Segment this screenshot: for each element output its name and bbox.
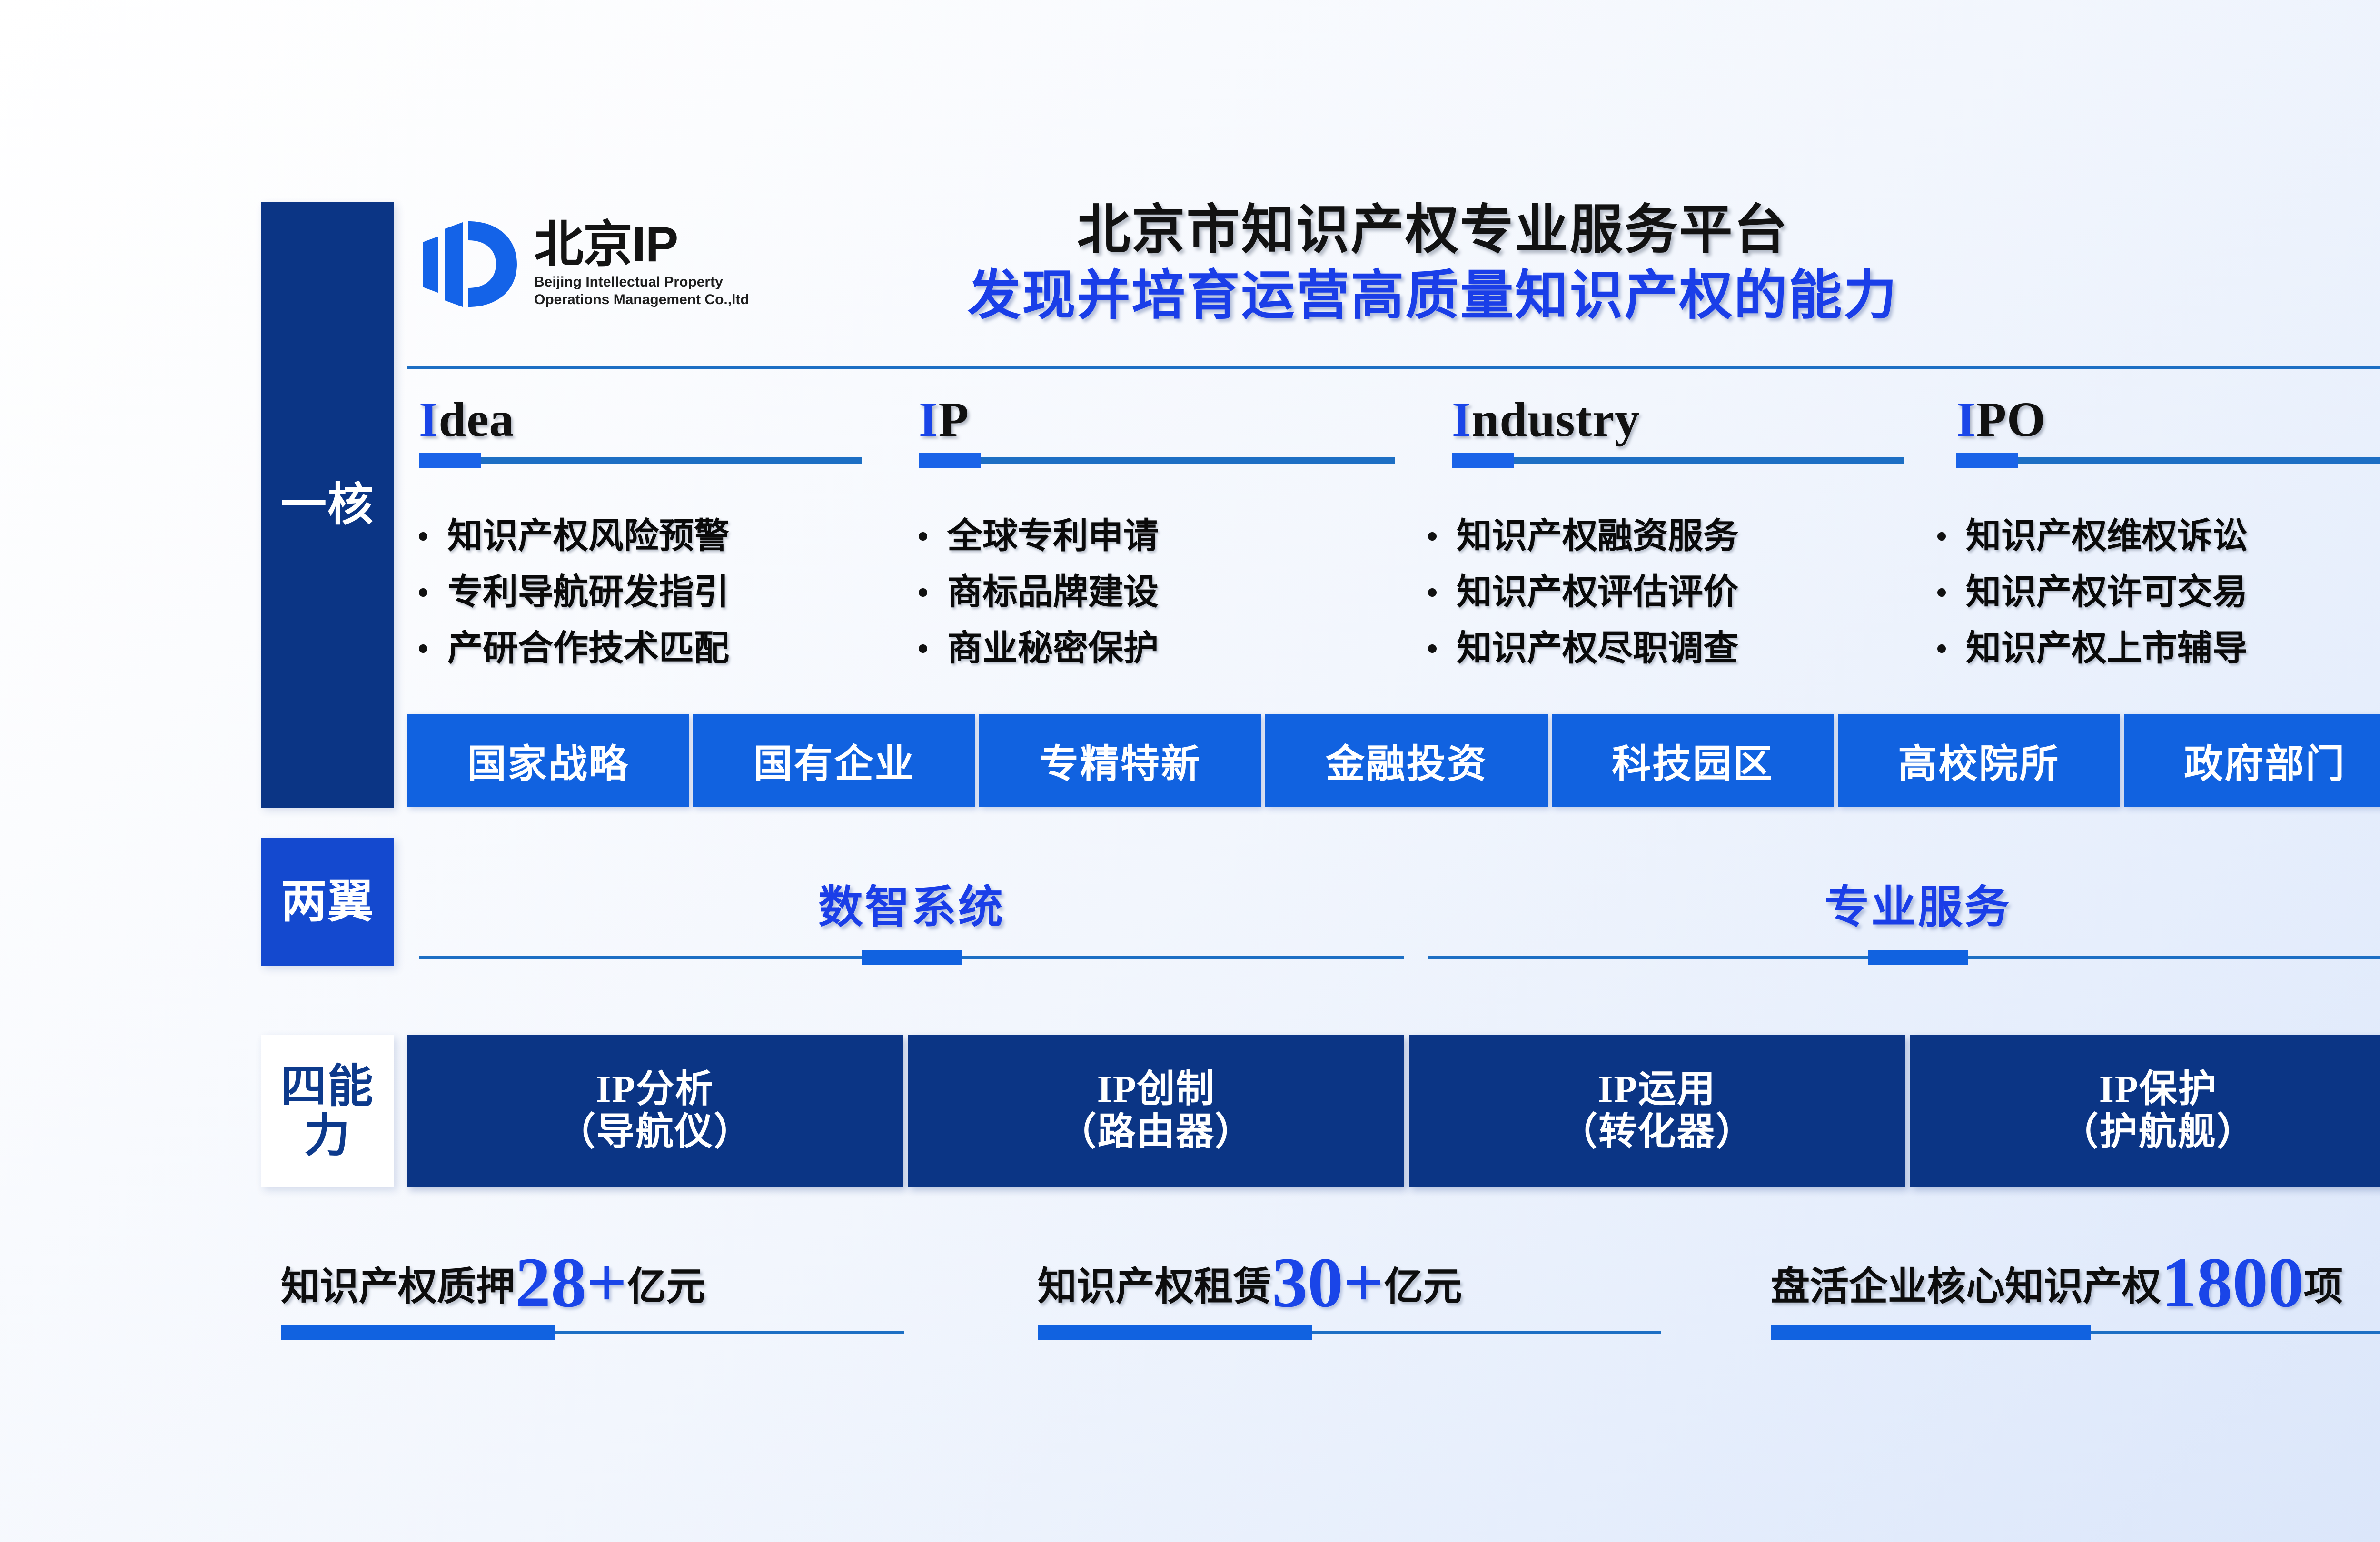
- rail-core-text: 一核: [281, 480, 374, 530]
- bullet-dot-icon: [1937, 588, 1946, 597]
- bullet-dot-icon: [919, 588, 927, 597]
- brand-logo: 北京IP Beijing Intellectual Property Opera…: [419, 205, 800, 324]
- list-item-label: 产研合作技术匹配: [447, 631, 729, 666]
- infographic-canvas: 一核 两翼 四能 力 北京IP Beijing Intellectual Pro…: [0, 0, 2380, 1542]
- tag-chip[interactable]: 政府部门: [2124, 714, 2380, 807]
- rail-label-abilities: 四能 力: [261, 1035, 394, 1187]
- rail-abilities-line1: 四能: [281, 1062, 374, 1111]
- ability-box[interactable]: IP运用 （转化器）: [1409, 1035, 1905, 1187]
- tag-chip[interactable]: 国有企业: [693, 714, 975, 807]
- page-subtitle: 发现并培育运营高质量知识产权的能力: [885, 265, 1980, 327]
- bullet-list-industry: 知识产权融资服务 知识产权评估评价 知识产权尽职调查: [1428, 519, 1738, 687]
- list-item: 知识产权许可交易: [1937, 575, 2248, 610]
- bullet-dot-icon: [919, 532, 927, 541]
- stat-number: 1800: [2161, 1243, 2304, 1322]
- bullet-dot-icon: [419, 588, 427, 597]
- colhead-rest: ndustry: [1471, 392, 1640, 447]
- bullet-dot-icon: [419, 532, 427, 541]
- stat-pledge: 知识产权质押28+亿元: [281, 1247, 904, 1334]
- column-underline-ipo: [1956, 457, 2380, 464]
- ability-alias: （护航舰）: [2061, 1111, 2256, 1154]
- colhead-initial: I: [1452, 392, 1471, 447]
- list-item: 知识产权尽职调查: [1428, 631, 1738, 666]
- stat-underline: [1771, 1331, 2380, 1334]
- tag-chip[interactable]: 金融投资: [1265, 714, 1547, 807]
- list-item: 专利导航研发指引: [419, 575, 729, 610]
- stat-unit: 亿元: [627, 1265, 705, 1308]
- list-item: 知识产权风险预警: [419, 519, 729, 554]
- list-item-label: 知识产权尽职调查: [1457, 631, 1738, 666]
- page-title: 北京市知识产权专业服务平台: [885, 199, 1980, 262]
- list-item: 全球专利申请: [919, 519, 1159, 554]
- stat-underline: [1038, 1331, 1661, 1334]
- stat-label: 知识产权质押: [281, 1265, 515, 1308]
- ability-title: IP创制: [1097, 1068, 1215, 1111]
- rail-label-wings: 两翼: [261, 838, 394, 966]
- bullet-list-idea: 知识产权风险预警 专利导航研发指引 产研合作技术匹配: [419, 519, 729, 687]
- stat-unit: 项: [2304, 1265, 2343, 1308]
- list-item-label: 知识产权评估评价: [1457, 575, 1738, 610]
- ability-title: IP分析: [596, 1068, 714, 1111]
- column-underline-industry: [1452, 457, 1904, 464]
- bullet-dot-icon: [1428, 532, 1437, 541]
- wing-underline-digital: [419, 956, 1404, 959]
- stat-label: 知识产权租赁: [1038, 1265, 1272, 1308]
- colhead-rest: dea: [438, 392, 514, 447]
- stat-lease: 知识产权租赁30+亿元: [1038, 1247, 1661, 1334]
- list-item-label: 全球专利申请: [947, 519, 1159, 554]
- tag-chip[interactable]: 高校院所: [1838, 714, 2120, 807]
- list-item: 商业秘密保护: [919, 631, 1159, 666]
- list-item: 商标品牌建设: [919, 575, 1159, 610]
- bullet-dot-icon: [1428, 644, 1437, 653]
- stat-unit: 亿元: [1384, 1265, 1462, 1308]
- logo-chinese-name: 北京IP: [534, 220, 749, 269]
- rail-label-core: 一核: [261, 202, 394, 808]
- list-item-label: 商标品牌建设: [947, 575, 1159, 610]
- ability-alias: （转化器）: [1559, 1111, 1755, 1154]
- logo-english-line2: Operations Management Co.,ltd: [534, 291, 749, 309]
- bullet-list-ip: 全球专利申请 商标品牌建设 商业秘密保护: [919, 519, 1159, 687]
- wing-title: 专业服务: [1428, 885, 2380, 930]
- ability-title: IP保护: [2099, 1068, 2217, 1111]
- colhead-initial: I: [1956, 392, 1976, 447]
- wing-label-digital: 数智系统: [419, 885, 1404, 930]
- wing-title: 数智系统: [419, 885, 1404, 930]
- header-titles: 北京市知识产权专业服务平台 发现并培育运营高质量知识产权的能力: [885, 199, 1980, 327]
- bullet-dot-icon: [919, 644, 927, 653]
- tag-chip[interactable]: 科技园区: [1552, 714, 1834, 807]
- colhead-initial: I: [919, 392, 938, 447]
- wing-label-services: 专业服务: [1428, 885, 2380, 930]
- ability-box-row: IP分析 （导航仪） IP创制 （路由器） IP运用 （转化器） IP保护 （护…: [407, 1035, 2380, 1187]
- list-item: 产研合作技术匹配: [419, 631, 729, 666]
- list-item-label: 知识产权风险预警: [447, 519, 729, 554]
- bullet-dot-icon: [1428, 588, 1437, 597]
- list-item: 知识产权维权诉讼: [1937, 519, 2248, 554]
- tag-chip[interactable]: 国家战略: [407, 714, 689, 807]
- bullet-dot-icon: [419, 644, 427, 653]
- stat-number: 28+: [515, 1243, 627, 1322]
- ability-box[interactable]: IP保护 （护航舰）: [1910, 1035, 2380, 1187]
- column-head-ipo: IPO: [1956, 395, 2046, 445]
- stat-underline: [281, 1331, 904, 1334]
- list-item-label: 知识产权融资服务: [1457, 519, 1738, 554]
- bullet-dot-icon: [1937, 644, 1946, 653]
- audience-tag-row: 国家战略 国有企业 专精特新 金融投资 科技园区 高校院所 政府部门: [407, 714, 2380, 807]
- stat-number: 30+: [1272, 1243, 1384, 1322]
- ability-title: IP运用: [1598, 1068, 1716, 1111]
- beijing-ip-logo-icon: [419, 217, 524, 312]
- column-head-idea: Idea: [419, 395, 514, 445]
- rail-wings-text: 两翼: [281, 877, 374, 927]
- bullet-dot-icon: [1937, 532, 1946, 541]
- list-item-label: 知识产权许可交易: [1966, 575, 2248, 610]
- colhead-initial: I: [419, 392, 438, 447]
- list-item-label: 知识产权上市辅导: [1966, 631, 2248, 666]
- ability-box[interactable]: IP分析 （导航仪）: [407, 1035, 903, 1187]
- list-item-label: 知识产权维权诉讼: [1966, 519, 2248, 554]
- list-item-label: 专利导航研发指引: [447, 575, 729, 610]
- ability-alias: （导航仪）: [557, 1111, 753, 1154]
- logo-english-line1: Beijing Intellectual Property: [534, 273, 749, 291]
- rail-abilities-line2: 力: [281, 1111, 374, 1161]
- column-head-ip: IP: [919, 395, 969, 445]
- stat-label: 盘活企业核心知识产权: [1771, 1265, 2161, 1308]
- colhead-rest: P: [938, 392, 969, 447]
- list-item: 知识产权融资服务: [1428, 519, 1738, 554]
- list-item: 知识产权评估评价: [1428, 575, 1738, 610]
- column-head-industry: Industry: [1452, 395, 1640, 445]
- wing-underline-services: [1428, 956, 2380, 959]
- bullet-list-ipo: 知识产权维权诉讼 知识产权许可交易 知识产权上市辅导: [1937, 519, 2248, 687]
- list-item: 知识产权上市辅导: [1937, 631, 2248, 666]
- stat-activated: 盘活企业核心知识产权1800项: [1771, 1247, 2380, 1334]
- ability-alias: （路由器）: [1059, 1111, 1254, 1154]
- tag-chip[interactable]: 专精特新: [979, 714, 1261, 807]
- column-underline-ip: [919, 457, 1395, 464]
- list-item-label: 商业秘密保护: [947, 631, 1159, 666]
- header-divider: [407, 366, 2380, 369]
- column-underline-idea: [419, 457, 862, 464]
- ability-box[interactable]: IP创制 （路由器）: [908, 1035, 1405, 1187]
- colhead-rest: PO: [1976, 392, 2045, 447]
